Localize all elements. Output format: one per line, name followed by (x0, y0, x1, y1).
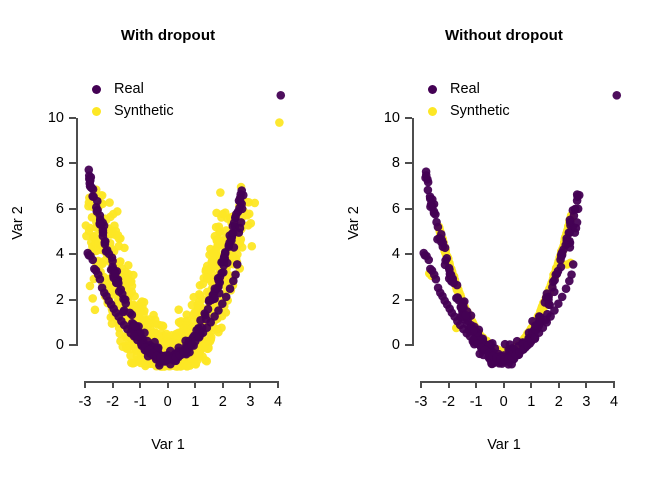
scatter-point (546, 286, 555, 295)
scatter-point (537, 306, 546, 315)
scatter-point (159, 334, 168, 343)
scatter-point (561, 234, 570, 243)
scatter-point (523, 332, 532, 341)
scatter-point (84, 165, 93, 174)
scatter-point (162, 352, 171, 361)
scatter-point (129, 318, 138, 327)
scatter-point (140, 343, 149, 352)
scatter-point (130, 332, 139, 341)
x-tick-label: -1 (128, 394, 152, 410)
scatter-point (116, 299, 125, 308)
scatter-point (148, 359, 157, 368)
scatter-point (152, 342, 161, 351)
scatter-point (151, 348, 160, 357)
scatter-point (500, 349, 509, 358)
scatter-point (560, 238, 569, 247)
scatter-point (168, 341, 177, 350)
scatter-point (534, 312, 543, 321)
scatter-point (495, 349, 504, 358)
scatter-point (540, 302, 549, 311)
scatter-point (462, 329, 471, 338)
scatter-point (493, 347, 502, 356)
scatter-point (456, 313, 465, 322)
scatter-point (226, 272, 235, 281)
scatter-point (555, 255, 564, 264)
scatter-point (521, 338, 530, 347)
scatter-point (450, 277, 459, 286)
scatter-point (96, 267, 105, 276)
scatter-point (483, 340, 492, 349)
scatter-point (135, 303, 144, 312)
scatter-point (90, 275, 99, 284)
scatter-point (555, 257, 564, 266)
scatter-point (204, 325, 213, 334)
scatter-point (213, 299, 222, 308)
scatter-point (161, 357, 170, 366)
scatter-point (108, 257, 117, 266)
scatter-point (192, 308, 201, 317)
scatter-point (521, 343, 530, 352)
scatter-point (565, 277, 574, 286)
scatter-point (456, 293, 465, 302)
scatter-point (439, 239, 448, 248)
scatter-point (85, 175, 94, 184)
scatter-point (503, 348, 512, 357)
scatter-point (426, 265, 435, 274)
scatter-point (424, 186, 433, 195)
scatter-point (198, 295, 207, 304)
scatter-point (195, 333, 204, 342)
scatter-point (549, 274, 558, 283)
y-tick (405, 253, 412, 255)
scatter-point (450, 274, 459, 283)
scatter-point (559, 245, 568, 254)
scatter-point (109, 272, 118, 281)
scatter-point (129, 300, 138, 309)
scatter-point (179, 349, 188, 358)
scatter-point (504, 346, 513, 355)
scatter-point (528, 325, 537, 334)
scatter-point (481, 340, 490, 349)
scatter-point (220, 238, 229, 247)
x-tick (503, 381, 505, 388)
scatter-point (486, 345, 495, 354)
scatter-point (480, 340, 489, 349)
scatter-point (501, 340, 510, 349)
scatter-point (206, 245, 215, 254)
scatter-point (474, 330, 483, 339)
scatter-point (468, 319, 477, 328)
scatter-point (105, 250, 114, 259)
scatter-point (114, 287, 123, 296)
scatter-point (82, 232, 91, 241)
scatter-point (137, 340, 146, 349)
scatter-point (196, 329, 205, 338)
scatter-point (490, 346, 499, 355)
scatter-point (98, 284, 107, 293)
scatter-point (536, 318, 545, 327)
scatter-point (436, 228, 445, 237)
scatter-point (439, 242, 448, 251)
scatter-point (506, 340, 515, 349)
scatter-point (203, 267, 212, 276)
scatter-point (145, 346, 154, 355)
scatter-point (453, 285, 462, 294)
x-tick (222, 381, 224, 388)
scatter-point (424, 178, 433, 187)
scatter-point (482, 341, 491, 350)
scatter-point (508, 345, 517, 354)
scatter-point (138, 302, 147, 311)
scatter-point (153, 352, 162, 361)
scatter-point (161, 357, 170, 366)
scatter-point (196, 346, 205, 355)
scatter-point (181, 337, 190, 346)
scatter-point (482, 340, 491, 349)
scatter-point (229, 281, 238, 290)
scatter-point (537, 306, 546, 315)
scatter-point (479, 336, 488, 345)
scatter-point (531, 319, 540, 328)
scatter-point (510, 344, 519, 353)
scatter-point (232, 210, 241, 219)
real-points-group (419, 91, 621, 369)
scatter-point (486, 342, 495, 351)
scatter-point (218, 312, 227, 321)
scatter-point (553, 264, 562, 273)
scatter-point (233, 258, 242, 267)
scatter-point (543, 292, 552, 301)
scatter-point (177, 354, 186, 363)
scatter-point (195, 333, 204, 342)
scatter-point (501, 348, 510, 357)
scatter-point (503, 349, 512, 358)
scatter-point (506, 349, 515, 358)
scatter-point (479, 336, 488, 345)
scatter-point (208, 310, 217, 319)
scatter-point (186, 327, 195, 336)
scatter-point (488, 360, 497, 369)
scatter-point (523, 335, 532, 344)
scatter-point (467, 318, 476, 327)
scatter-point (148, 342, 157, 351)
scatter-point (511, 345, 520, 354)
scatter-point (100, 231, 109, 240)
scatter-point (95, 219, 104, 228)
scatter-point (136, 359, 145, 368)
scatter-point (194, 316, 203, 325)
scatter-point (142, 345, 151, 354)
scatter-point (167, 331, 176, 340)
scatter-point (149, 349, 158, 358)
scatter-point (508, 353, 517, 362)
scatter-point (499, 348, 508, 357)
scatter-point (549, 277, 558, 286)
scatter-point (100, 221, 109, 230)
scatter-point (525, 339, 534, 348)
scatter-point (469, 321, 478, 330)
scatter-point (541, 298, 550, 307)
scatter-point (500, 348, 509, 357)
scatter-point (177, 358, 186, 367)
scatter-point (189, 339, 198, 348)
scatter-point (503, 347, 512, 356)
scatter-point (522, 334, 531, 343)
scatter-point (534, 312, 543, 321)
scatter-point (530, 323, 539, 332)
scatter-point (207, 288, 216, 297)
scatter-point (120, 306, 129, 315)
scatter-point (474, 328, 483, 337)
scatter-point (474, 330, 483, 339)
y-tick (405, 299, 412, 301)
scatter-point (547, 280, 556, 289)
scatter-point (455, 289, 464, 298)
scatter-point (544, 300, 553, 309)
scatter-point (180, 352, 189, 361)
scatter-point (504, 354, 513, 363)
scatter-point (144, 359, 153, 368)
scatter-point (523, 332, 532, 341)
scatter-point (88, 202, 97, 211)
scatter-point (163, 349, 172, 358)
scatter-point (104, 296, 113, 305)
scatter-point (539, 304, 548, 313)
scatter-point (138, 350, 147, 359)
scatter-point (458, 298, 467, 307)
scatter-point (441, 261, 450, 270)
scatter-point (441, 248, 450, 257)
scatter-point (453, 285, 462, 294)
x-tick (585, 381, 587, 388)
scatter-point (124, 316, 133, 325)
scatter-point (551, 270, 560, 279)
scatter-point (118, 342, 127, 351)
scatter-point (549, 274, 558, 283)
scatter-point (101, 277, 110, 286)
scatter-point (448, 270, 457, 279)
scatter-point (174, 332, 183, 341)
scatter-point (543, 291, 552, 300)
scatter-point (96, 216, 105, 225)
scatter-point (502, 350, 511, 359)
scatter-point (448, 267, 457, 276)
scatter-point (536, 306, 545, 315)
scatter-point (209, 291, 218, 300)
scatter-point (166, 362, 175, 371)
scatter-point (553, 262, 562, 271)
scatter-point (111, 227, 120, 236)
scatter-point (549, 274, 558, 283)
scatter-point (505, 348, 514, 357)
scatter-point (113, 315, 122, 324)
scatter-point (482, 346, 491, 355)
scatter-point (539, 303, 548, 312)
scatter-point (162, 347, 171, 356)
scatter-point (222, 241, 231, 250)
scatter-point (118, 290, 127, 299)
scatter-point (461, 305, 470, 314)
scatter-point (132, 345, 141, 354)
scatter-point (148, 358, 157, 367)
scatter-point (512, 345, 521, 354)
scatter-point (151, 347, 160, 356)
scatter-point (530, 319, 539, 328)
scatter-point (519, 337, 528, 346)
scatter-point (148, 338, 157, 347)
scatter-point (109, 210, 118, 219)
scatter-point (483, 341, 492, 350)
scatter-point (538, 304, 547, 313)
scatter-point (465, 313, 474, 322)
scatter-point (452, 324, 461, 333)
scatter-point (208, 257, 217, 266)
scatter-point (92, 218, 101, 227)
scatter-point (464, 311, 473, 320)
scatter-point (92, 265, 101, 274)
scatter-point (540, 299, 549, 308)
scatter-point (115, 291, 124, 300)
scatter-point (102, 292, 111, 301)
scatter-point (89, 192, 98, 201)
scatter-point (112, 231, 121, 240)
y-tick-label: 10 (36, 111, 64, 125)
scatter-point (187, 338, 196, 347)
scatter-point (559, 245, 568, 254)
scatter-point (494, 348, 503, 357)
scatter-point (83, 249, 92, 258)
scatter-point (127, 277, 136, 286)
scatter-point (550, 271, 559, 280)
scatter-point (489, 345, 498, 354)
scatter-point (440, 243, 449, 252)
scatter-point (446, 265, 455, 274)
scatter-point (545, 290, 554, 299)
scatter-point (200, 342, 209, 351)
scatter-point (531, 321, 540, 330)
x-tick-label: -3 (73, 394, 97, 410)
scatter-point (235, 228, 244, 237)
scatter-point (168, 354, 177, 363)
scatter-point (215, 278, 224, 287)
scatter-point (140, 344, 149, 353)
scatter-point (493, 349, 502, 358)
scatter-point (136, 338, 145, 347)
scatter-point (449, 275, 458, 284)
scatter-point (502, 354, 511, 363)
scatter-point (174, 343, 183, 352)
scatter-point (524, 334, 533, 343)
scatter-point (450, 276, 459, 285)
scatter-point (497, 348, 506, 357)
scatter-point (135, 339, 144, 348)
scatter-point (498, 352, 507, 361)
scatter-point (192, 360, 201, 369)
scatter-point (491, 345, 500, 354)
scatter-point (117, 288, 126, 297)
scatter-point (96, 200, 105, 209)
scatter-point (152, 344, 161, 353)
scatter-point (464, 309, 473, 318)
scatter-point (119, 275, 128, 284)
scatter-point (505, 346, 514, 355)
scatter-point (562, 234, 571, 243)
scatter-point (100, 239, 109, 248)
scatter-point (474, 328, 483, 337)
scatter-point (103, 250, 112, 259)
scatter-point (501, 350, 510, 359)
scatter-point (573, 196, 582, 205)
panel-title: With dropout (0, 26, 336, 46)
scatter-point (422, 167, 431, 176)
scatter-point (455, 291, 464, 300)
scatter-point (439, 237, 448, 246)
scatter-point (513, 337, 522, 346)
scatter-point (575, 191, 584, 200)
scatter-point (474, 328, 483, 337)
scatter-point (550, 273, 559, 282)
scatter-point (209, 309, 218, 318)
scatter-point (438, 237, 447, 246)
scatter-point (182, 331, 191, 340)
scatter-point (484, 353, 493, 362)
scatter-point (132, 307, 141, 316)
scatter-point (519, 345, 528, 354)
scatter-point (150, 329, 159, 338)
scatter-point (531, 318, 540, 327)
scatter-point (487, 345, 496, 354)
scatter-point (150, 343, 159, 352)
scatter-point (489, 359, 498, 368)
scatter-point (237, 214, 246, 223)
scatter-point (457, 295, 466, 304)
y-axis-title: Var 2 (346, 193, 362, 253)
scatter-point (445, 259, 454, 268)
scatter-point (154, 348, 163, 357)
scatter-point (527, 337, 536, 346)
scatter-point (456, 292, 465, 301)
scatter-point (530, 319, 539, 328)
y-tick-label: 8 (36, 156, 64, 170)
scatter-point (556, 253, 565, 262)
scatter-point (495, 357, 504, 366)
scatter-point (443, 253, 452, 262)
y-tick (405, 162, 412, 164)
scatter-point (508, 346, 517, 355)
scatter-point (228, 279, 237, 288)
scatter-point (192, 328, 201, 337)
scatter-point (481, 338, 490, 347)
scatter-point (469, 326, 478, 335)
scatter-point (495, 349, 504, 358)
scatter-point (220, 280, 229, 289)
scatter-point (198, 319, 207, 328)
scatter-point (550, 272, 559, 281)
scatter-point (514, 343, 523, 352)
scatter-point (111, 303, 120, 312)
scatter-point (226, 242, 235, 251)
scatter-point (509, 345, 518, 354)
scatter-point (467, 321, 476, 330)
scatter-point (140, 328, 149, 337)
scatter-point (148, 352, 157, 361)
scatter-point (493, 346, 502, 355)
scatter-point (566, 219, 575, 228)
scatter-point (474, 328, 483, 337)
scatter-point (146, 343, 155, 352)
scatter-point (563, 237, 572, 246)
scatter-point (495, 347, 504, 356)
